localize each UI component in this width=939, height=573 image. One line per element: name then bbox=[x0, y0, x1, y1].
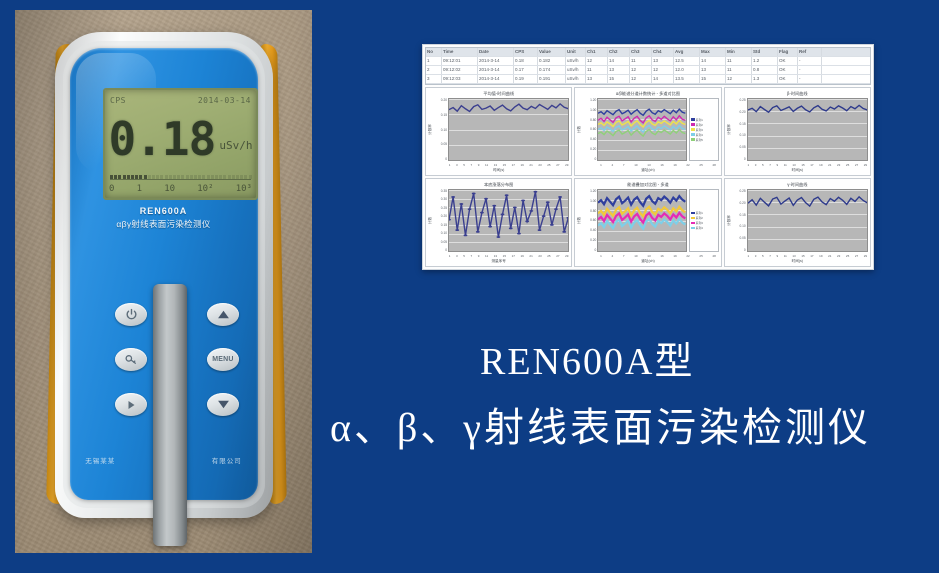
chart-legend-item: 系列4 bbox=[691, 226, 717, 230]
chart-x-axis-label: 时间(s) bbox=[725, 168, 870, 175]
table-cell: OK bbox=[778, 75, 798, 83]
chart-x-ticks: 1357911131517192123252729 bbox=[725, 252, 870, 259]
chart-x-tick: 9 bbox=[776, 254, 778, 258]
chart-panel: 本底涨落分布图计数0.350.300.250.200.150.100.05013… bbox=[425, 178, 572, 267]
table-cell: 13 bbox=[608, 66, 630, 74]
chart-x-tick: 13 bbox=[792, 163, 795, 167]
table-header-cell: Std bbox=[752, 48, 778, 56]
table-header-cell: Date bbox=[478, 48, 514, 56]
table-header-cell: Ch3 bbox=[630, 48, 652, 56]
chart-x-tick: 27 bbox=[855, 163, 858, 167]
chart-y-tick: 0.15 bbox=[739, 122, 745, 126]
chart-x-tick: 9 bbox=[478, 163, 480, 167]
chart-y-tick: 0.80 bbox=[590, 118, 596, 122]
chart-x-tick: 3 bbox=[456, 254, 458, 258]
chart-x-axis-label: 时间(s) bbox=[725, 259, 870, 266]
table-header-cell: Avg bbox=[674, 48, 700, 56]
chart-series-layer bbox=[748, 190, 867, 251]
chart-x-tick: 3 bbox=[456, 163, 458, 167]
chart-x-tick: 19 bbox=[673, 163, 676, 167]
chart-legend-swatch bbox=[691, 118, 695, 121]
chart-data-point bbox=[488, 226, 492, 228]
chart-data-point bbox=[451, 196, 455, 198]
chart-panel: α/β能谱分道计数统计 - 多道对比图计数1.201.000.800.600.4… bbox=[574, 87, 721, 176]
chart-y-ticks: 0.350.300.250.200.150.100.050 bbox=[434, 189, 448, 252]
chart-data-point bbox=[517, 233, 521, 235]
chart-x-tick: 29 bbox=[565, 163, 568, 167]
chart-x-axis-label: 道址(ch) bbox=[575, 168, 720, 175]
table-header-cell: CPS bbox=[514, 48, 538, 56]
chart-series-line bbox=[598, 109, 685, 115]
page-subtitle: α、β、γ射线表面污染检测仪 bbox=[330, 395, 871, 453]
chart-x-tick: 17 bbox=[810, 163, 813, 167]
chart-data-point bbox=[546, 201, 550, 203]
chart-series-line bbox=[449, 192, 568, 237]
chart-x-tick: 10 bbox=[634, 254, 637, 258]
chart-legend-item: 系列3 bbox=[691, 128, 717, 132]
chart-data-point bbox=[476, 231, 480, 233]
chart-gridline bbox=[449, 251, 568, 252]
chart-y-tick: 1.00 bbox=[590, 199, 596, 203]
chart-data-point bbox=[501, 213, 505, 215]
table-cell: 0.174 bbox=[538, 66, 566, 74]
chart-data-point bbox=[525, 220, 529, 222]
chart-y-axis-label: 计数 bbox=[577, 126, 582, 133]
table-cell: 12 bbox=[652, 66, 674, 74]
chart-x-tick: 28 bbox=[712, 163, 715, 167]
chart-data-point bbox=[492, 205, 496, 207]
chart-x-tick: 27 bbox=[855, 254, 858, 258]
chart-legend-item: 系列4 bbox=[691, 133, 717, 137]
table-header-cell: Ref bbox=[798, 48, 822, 56]
chart-x-tick: 1 bbox=[747, 163, 749, 167]
chart-x-tick: 19 bbox=[521, 163, 524, 167]
chart-data-point bbox=[513, 206, 517, 208]
chart-plot-area bbox=[448, 189, 569, 252]
page-title: REN600A型 bbox=[480, 330, 694, 385]
chart-x-tick: 27 bbox=[556, 254, 559, 258]
chart-series-line bbox=[449, 104, 568, 112]
table-cell: - bbox=[798, 66, 822, 74]
table-header-row: NoTimeDateCPSValueUnitCh1Ch2Ch3Ch4AvgMax… bbox=[426, 48, 870, 57]
chart-x-tick: 4 bbox=[612, 163, 614, 167]
chart-y-axis-label: 计数 bbox=[428, 217, 433, 224]
table-cell: 14 bbox=[608, 57, 630, 65]
table-row: 209:12:022014-3-140.170.174uSv/h11131212… bbox=[426, 66, 870, 75]
chart-y-tick: 0.60 bbox=[590, 127, 596, 131]
chart-x-tick: 7 bbox=[471, 254, 473, 258]
chart-legend-label: 系列3 bbox=[696, 128, 703, 132]
chart-y-tick: 0.10 bbox=[739, 133, 745, 137]
chart-x-tick: 13 bbox=[647, 163, 650, 167]
chart-legend-label: 系列1 bbox=[696, 211, 703, 215]
chart-data-point bbox=[521, 199, 525, 201]
chart-x-tick: 7 bbox=[623, 254, 625, 258]
chart-x-tick: 4 bbox=[612, 254, 614, 258]
chart-x-tick: 22 bbox=[686, 254, 689, 258]
table-cell: 3 bbox=[426, 75, 442, 83]
table-cell: 11 bbox=[630, 57, 652, 65]
chart-y-tick: 0.30 bbox=[441, 197, 447, 201]
chart-data-point bbox=[484, 198, 488, 200]
chart-legend-item: 系列1 bbox=[691, 118, 717, 122]
chart-x-tick: 25 bbox=[699, 254, 702, 258]
chart-data-point bbox=[533, 191, 537, 193]
chart-gridline bbox=[449, 160, 568, 161]
table-cell: 13 bbox=[586, 75, 608, 83]
table-cell: 12 bbox=[630, 75, 652, 83]
table-cell: 13.5 bbox=[674, 75, 700, 83]
chart-data-point bbox=[509, 227, 513, 229]
chart-legend-label: 系列4 bbox=[696, 133, 703, 137]
chart-x-tick: 9 bbox=[776, 163, 778, 167]
chart-x-tick: 1 bbox=[449, 163, 451, 167]
chart-y-ticks: 1.201.000.800.600.400.200 bbox=[583, 98, 597, 161]
table-row: 109:12:012014-3-140.180.182uSv/h12141113… bbox=[426, 57, 870, 66]
chart-x-ticks: 1357911131517192123252729 bbox=[426, 161, 571, 168]
table-cell: 14 bbox=[700, 57, 726, 65]
table-cell: uSv/h bbox=[566, 57, 586, 65]
chart-data-point bbox=[505, 194, 509, 196]
chart-data-point bbox=[554, 208, 558, 210]
chart-y-tick: 0.05 bbox=[739, 145, 745, 149]
chart-x-ticks: 1357911131517192123252729 bbox=[725, 161, 870, 168]
table-cell: 11 bbox=[586, 66, 608, 74]
table-cell: 2014-3-14 bbox=[478, 57, 514, 65]
chart-body: 计数1.201.000.800.600.400.200系列1系列2系列3系列4系… bbox=[575, 97, 720, 161]
chart-y-ticks: 1.201.000.800.600.400.200 bbox=[583, 189, 597, 252]
chart-body: 计数率0.250.200.150.100.050 bbox=[725, 97, 870, 161]
chart-y-tick: 1.20 bbox=[590, 98, 596, 102]
software-screenshot: NoTimeDateCPSValueUnitCh1Ch2Ch3Ch4AvgMax… bbox=[422, 44, 874, 270]
chart-x-tick: 16 bbox=[660, 254, 663, 258]
table-cell: 0.19 bbox=[514, 75, 538, 83]
table-cell: uSv/h bbox=[566, 75, 586, 83]
table-header-cell: Ch1 bbox=[586, 48, 608, 56]
chart-plot-area bbox=[747, 98, 868, 161]
table-header-cell: Flag bbox=[778, 48, 798, 56]
table-cell: uSv/h bbox=[566, 66, 586, 74]
chart-y-axis-label-wrap: 计数 bbox=[576, 98, 583, 161]
chart-x-tick: 3 bbox=[755, 254, 757, 258]
chart-y-tick: 0.05 bbox=[441, 142, 447, 146]
chart-plot-area bbox=[597, 98, 686, 161]
table-cell: - bbox=[798, 57, 822, 65]
chart-x-axis-label: 道址(ch) bbox=[575, 259, 720, 266]
chart-x-tick: 21 bbox=[828, 163, 831, 167]
chart-legend-swatch bbox=[691, 123, 695, 126]
chart-data-point bbox=[562, 231, 566, 233]
chart-body: 计数率0.200.150.100.050 bbox=[426, 97, 571, 161]
chart-data-point bbox=[529, 210, 533, 212]
chart-y-axis-label-wrap: 计数 bbox=[576, 189, 583, 252]
chart-x-tick: 7 bbox=[769, 254, 771, 258]
chart-legend-label: 系列2 bbox=[696, 216, 703, 220]
chart-x-axis-label: 测量序号 bbox=[426, 259, 571, 266]
table-cell: 1 bbox=[426, 57, 442, 65]
chart-series-layer bbox=[598, 190, 685, 251]
chart-x-tick: 21 bbox=[828, 254, 831, 258]
chart-x-tick: 22 bbox=[686, 163, 689, 167]
table-cell: 11 bbox=[726, 57, 752, 65]
chart-grid: 平均值-时间曲线计数率0.200.150.100.050135791113151… bbox=[425, 87, 871, 267]
chart-legend-label: 系列3 bbox=[696, 221, 703, 225]
chart-x-tick: 28 bbox=[712, 254, 715, 258]
table-cell: 13 bbox=[652, 57, 674, 65]
chart-x-tick: 13 bbox=[494, 254, 497, 258]
chart-y-axis-label-wrap: 计数率 bbox=[427, 98, 434, 161]
chart-data-point bbox=[472, 193, 476, 195]
chart-panel: β-时间曲线计数率0.250.200.150.100.0501357911131… bbox=[724, 87, 871, 176]
chart-legend-item: 系列3 bbox=[691, 221, 717, 225]
chart-y-tick: 0.40 bbox=[590, 228, 596, 232]
chart-x-tick: 29 bbox=[565, 254, 568, 258]
table-cell: OK bbox=[778, 57, 798, 65]
chart-y-tick: 1.20 bbox=[590, 189, 596, 193]
chart-x-tick: 13 bbox=[494, 163, 497, 167]
chart-x-tick: 23 bbox=[538, 163, 541, 167]
chart-legend: 系列1系列2系列3系列4 bbox=[689, 189, 719, 252]
chart-legend-label: 系列1 bbox=[696, 118, 703, 122]
chart-series-line bbox=[598, 196, 685, 206]
chart-x-tick: 19 bbox=[819, 163, 822, 167]
chart-y-tick: 0.25 bbox=[441, 206, 447, 210]
chart-legend-swatch bbox=[691, 227, 695, 230]
table-cell: 09:12:02 bbox=[442, 66, 478, 74]
table-cell: 14 bbox=[652, 75, 674, 83]
table-header-cell: Min bbox=[726, 48, 752, 56]
chart-x-tick: 13 bbox=[647, 254, 650, 258]
table-cell: 0.18 bbox=[514, 57, 538, 65]
chart-y-tick: 0.20 bbox=[441, 98, 447, 102]
table-cell: 0.182 bbox=[538, 57, 566, 65]
slide-background: CPS 2014-03-14 0.18 uSv/h 011010²10³ REN… bbox=[0, 0, 939, 573]
chart-x-tick: 19 bbox=[521, 254, 524, 258]
chart-legend: 系列1系列2系列3系列4系列5 bbox=[689, 98, 719, 161]
table-header-cell: Unit bbox=[566, 48, 586, 56]
chart-series-layer bbox=[449, 99, 568, 160]
chart-plot-area bbox=[448, 98, 569, 161]
chart-legend-swatch bbox=[691, 133, 695, 136]
chart-data-point bbox=[459, 203, 463, 205]
chart-legend-item: 系列5 bbox=[691, 138, 717, 142]
table-cell: 15 bbox=[700, 75, 726, 83]
chart-y-tick: 0.15 bbox=[441, 113, 447, 117]
headline-block: REN600A型 α、β、γ射线表面污染检测仪 bbox=[330, 320, 939, 500]
chart-data-point bbox=[496, 236, 500, 238]
chart-y-tick: 0.10 bbox=[739, 224, 745, 228]
chart-body: 计数0.350.300.250.200.150.100.050 bbox=[426, 188, 571, 252]
table-cell: 0.8 bbox=[752, 66, 778, 74]
table-header-cell: Ch2 bbox=[608, 48, 630, 56]
chart-x-tick: 11 bbox=[784, 163, 787, 167]
table-cell: 12.5 bbox=[674, 57, 700, 65]
chart-x-tick: 1 bbox=[449, 254, 451, 258]
chart-data-point bbox=[480, 212, 484, 214]
chart-y-tick: 0.10 bbox=[441, 231, 447, 235]
chart-x-tick: 17 bbox=[810, 254, 813, 258]
chart-x-tick: 19 bbox=[673, 254, 676, 258]
chart-panel: 平均值-时间曲线计数率0.200.150.100.050135791113151… bbox=[425, 87, 572, 176]
chart-y-axis-label-wrap: 计数率 bbox=[726, 98, 733, 161]
chart-legend-swatch bbox=[691, 212, 695, 215]
chart-data-point bbox=[464, 234, 468, 236]
chart-x-tick: 29 bbox=[864, 254, 867, 258]
chart-x-tick: 5 bbox=[762, 163, 764, 167]
chart-y-axis-label: 计数率 bbox=[727, 215, 732, 226]
chart-y-tick: 0.15 bbox=[441, 223, 447, 227]
chart-x-tick: 1 bbox=[600, 254, 602, 258]
chart-gridline bbox=[598, 251, 685, 252]
table-cell: 0.191 bbox=[538, 75, 566, 83]
chart-x-tick: 3 bbox=[755, 163, 757, 167]
chart-x-tick: 15 bbox=[503, 254, 506, 258]
chart-plot-area bbox=[597, 189, 686, 252]
data-table: NoTimeDateCPSValueUnitCh1Ch2Ch3Ch4AvgMax… bbox=[425, 47, 871, 85]
chart-x-tick: 5 bbox=[463, 163, 465, 167]
chart-y-tick: 0.20 bbox=[739, 201, 745, 205]
table-header-cell: No bbox=[426, 48, 442, 56]
table-cell: 09:12:01 bbox=[442, 57, 478, 65]
chart-y-axis-label: 计数率 bbox=[727, 124, 732, 135]
table-cell: 12 bbox=[586, 57, 608, 65]
device-photo: CPS 2014-03-14 0.18 uSv/h 011010²10³ REN… bbox=[15, 10, 312, 553]
chart-x-tick: 21 bbox=[529, 163, 532, 167]
table-row: 309:12:032014-3-140.190.191uSv/h13151214… bbox=[426, 75, 870, 84]
table-cell: 15 bbox=[608, 75, 630, 83]
chart-x-tick: 7 bbox=[769, 163, 771, 167]
chart-legend-item: 系列1 bbox=[691, 211, 717, 215]
chart-y-tick: 0.20 bbox=[441, 214, 447, 218]
table-header-cell: Ch4 bbox=[652, 48, 674, 56]
chart-x-tick: 27 bbox=[556, 163, 559, 167]
chart-data-point bbox=[542, 215, 546, 217]
chart-x-ticks: 14710131619222528 bbox=[575, 252, 720, 259]
chart-x-tick: 25 bbox=[547, 254, 550, 258]
chart-y-tick: 0.25 bbox=[739, 98, 745, 102]
chart-x-tick: 25 bbox=[846, 163, 849, 167]
table-header-cell: Time bbox=[442, 48, 478, 56]
table-cell: 0.17 bbox=[514, 66, 538, 74]
chart-y-tick: 0.80 bbox=[590, 209, 596, 213]
table-cell: 2014-3-14 bbox=[478, 75, 514, 83]
chart-body: 计数率0.250.200.150.100.050 bbox=[725, 188, 870, 252]
table-cell: 12 bbox=[726, 75, 752, 83]
chart-panel: γ-时间曲线计数率0.250.200.150.100.0501357911131… bbox=[724, 178, 871, 267]
chart-x-tick: 23 bbox=[837, 254, 840, 258]
chart-y-tick: 0.40 bbox=[590, 137, 596, 141]
chart-x-tick: 5 bbox=[463, 254, 465, 258]
chart-x-tick: 17 bbox=[512, 254, 515, 258]
table-header-cell: Value bbox=[538, 48, 566, 56]
chart-y-axis-label-wrap: 计数率 bbox=[726, 189, 733, 252]
chart-x-tick: 29 bbox=[864, 163, 867, 167]
chart-y-axis-label-wrap: 计数 bbox=[427, 189, 434, 252]
chart-x-tick: 21 bbox=[529, 254, 532, 258]
chart-x-tick: 7 bbox=[623, 163, 625, 167]
chart-data-point bbox=[468, 208, 472, 210]
chart-x-tick: 1 bbox=[600, 163, 602, 167]
table-cell: 2 bbox=[426, 66, 442, 74]
chart-y-tick: 0.20 bbox=[590, 238, 596, 242]
table-cell: OK bbox=[778, 66, 798, 74]
chart-data-point bbox=[558, 196, 562, 198]
chart-y-tick: 0.05 bbox=[441, 240, 447, 244]
chart-legend-swatch bbox=[691, 138, 695, 141]
chart-x-tick: 25 bbox=[699, 163, 702, 167]
chart-legend-item: 系列2 bbox=[691, 216, 717, 220]
chart-y-tick: 0.35 bbox=[441, 189, 447, 193]
chart-legend-label: 系列4 bbox=[696, 226, 703, 230]
chart-y-tick: 0.15 bbox=[739, 213, 745, 217]
chart-panel: 能谱叠加对比图 - 多道计数1.201.000.800.600.400.200系… bbox=[574, 178, 721, 267]
chart-legend-item: 系列2 bbox=[691, 123, 717, 127]
chart-data-point bbox=[566, 217, 568, 219]
chart-y-ticks: 0.200.150.100.050 bbox=[434, 98, 448, 161]
chart-series-line bbox=[748, 105, 867, 112]
chart-legend-label: 系列5 bbox=[696, 138, 703, 142]
chart-body: 计数1.201.000.800.600.400.200系列1系列2系列3系列4 bbox=[575, 188, 720, 252]
chart-legend-swatch bbox=[691, 128, 695, 131]
chart-series-layer bbox=[449, 190, 568, 251]
table-cell: 1.3 bbox=[752, 75, 778, 83]
table-cell: 13 bbox=[700, 66, 726, 74]
chart-y-tick: 1.00 bbox=[590, 108, 596, 112]
chart-x-tick: 13 bbox=[792, 254, 795, 258]
chart-x-tick: 5 bbox=[762, 254, 764, 258]
table-cell: 1.2 bbox=[752, 57, 778, 65]
chart-y-tick: 0.20 bbox=[739, 110, 745, 114]
chart-x-tick: 11 bbox=[485, 163, 488, 167]
chart-x-tick: 10 bbox=[634, 163, 637, 167]
chart-plot-area bbox=[747, 189, 868, 252]
chart-x-tick: 23 bbox=[837, 163, 840, 167]
chart-x-tick: 17 bbox=[512, 163, 515, 167]
chart-y-axis-label: 计数 bbox=[577, 217, 582, 224]
chart-legend-swatch bbox=[691, 217, 695, 220]
chart-x-tick: 25 bbox=[846, 254, 849, 258]
chart-data-point bbox=[538, 229, 542, 231]
chart-x-tick: 23 bbox=[538, 254, 541, 258]
chart-x-tick: 19 bbox=[819, 254, 822, 258]
chart-x-tick: 16 bbox=[660, 163, 663, 167]
table-cell: 2014-3-14 bbox=[478, 66, 514, 74]
chart-x-tick: 7 bbox=[471, 163, 473, 167]
chart-gridline bbox=[748, 251, 867, 252]
chart-data-point bbox=[550, 224, 554, 226]
table-cell: 12 bbox=[630, 66, 652, 74]
chart-y-axis-label: 计数率 bbox=[428, 124, 433, 135]
table-header-cell: Max bbox=[700, 48, 726, 56]
chart-legend-swatch bbox=[691, 222, 695, 225]
chart-y-ticks: 0.250.200.150.100.050 bbox=[733, 189, 747, 252]
chart-gridline bbox=[748, 160, 867, 161]
chart-y-ticks: 0.250.200.150.100.050 bbox=[733, 98, 747, 161]
chart-x-tick: 11 bbox=[485, 254, 488, 258]
chart-series-layer bbox=[748, 99, 867, 160]
chart-x-tick: 15 bbox=[503, 163, 506, 167]
chart-y-tick: 0.25 bbox=[739, 189, 745, 193]
chart-x-tick: 15 bbox=[801, 254, 804, 258]
table-cell: 11 bbox=[726, 66, 752, 74]
chart-y-tick: 0.20 bbox=[590, 147, 596, 151]
chart-series-layer bbox=[598, 99, 685, 160]
chart-gridline bbox=[598, 160, 685, 161]
chart-x-tick: 15 bbox=[801, 163, 804, 167]
chart-legend-label: 系列2 bbox=[696, 123, 703, 127]
table-cell: - bbox=[798, 75, 822, 83]
photo-vignette bbox=[15, 10, 312, 553]
